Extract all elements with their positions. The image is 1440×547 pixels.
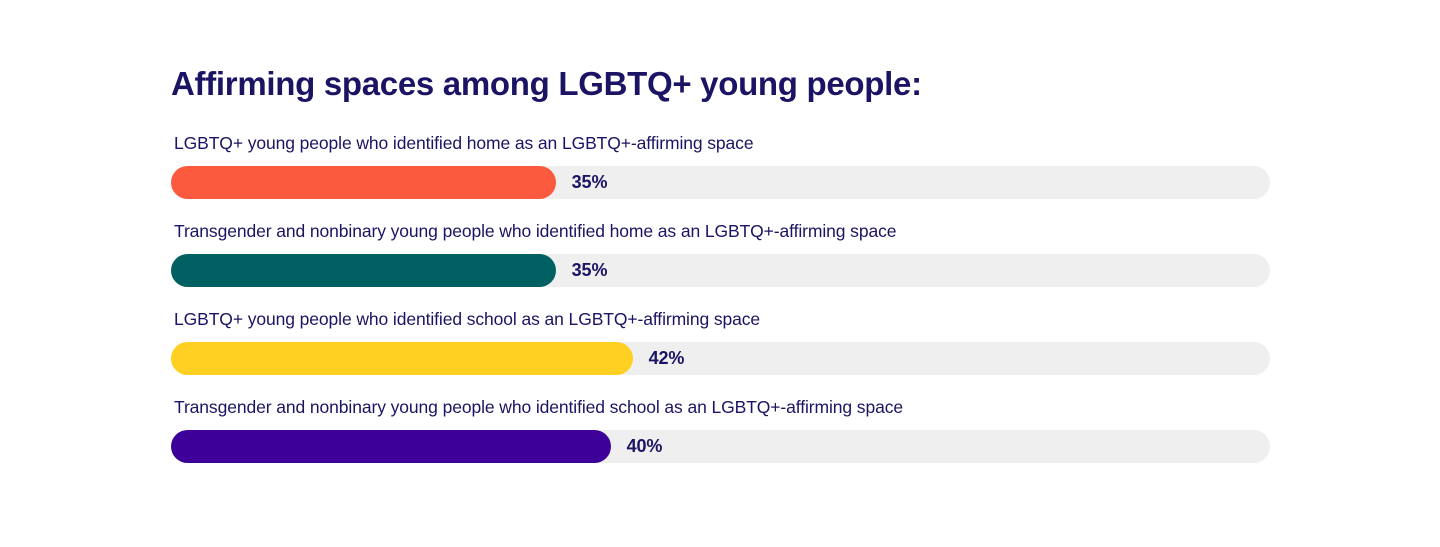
bar-value-label: 42%	[649, 342, 685, 375]
bar-value-label: 35%	[572, 254, 608, 287]
bar-value-label: 40%	[627, 430, 663, 463]
bar-fill	[171, 166, 556, 199]
bar-label: LGBTQ+ young people who identified home …	[174, 133, 753, 154]
bar-track: 35%	[171, 166, 1270, 199]
bar-fill	[171, 254, 556, 287]
bar-label: LGBTQ+ young people who identified schoo…	[174, 309, 760, 330]
bar-chart-rows: LGBTQ+ young people who identified home …	[171, 133, 1270, 485]
bar-track: 35%	[171, 254, 1270, 287]
chart-figure: Affirming spaces among LGBTQ+ young peop…	[0, 0, 1440, 547]
bar-row: Transgender and nonbinary young people w…	[171, 221, 1270, 309]
bar-fill	[171, 342, 633, 375]
bar-label: Transgender and nonbinary young people w…	[174, 221, 896, 242]
bar-fill	[171, 430, 611, 463]
bar-row: Transgender and nonbinary young people w…	[171, 397, 1270, 485]
bar-row: LGBTQ+ young people who identified schoo…	[171, 309, 1270, 397]
bar-track: 40%	[171, 430, 1270, 463]
bar-track: 42%	[171, 342, 1270, 375]
page-title: Affirming spaces among LGBTQ+ young peop…	[171, 66, 922, 102]
bar-label: Transgender and nonbinary young people w…	[174, 397, 903, 418]
bar-row: LGBTQ+ young people who identified home …	[171, 133, 1270, 221]
bar-value-label: 35%	[572, 166, 608, 199]
